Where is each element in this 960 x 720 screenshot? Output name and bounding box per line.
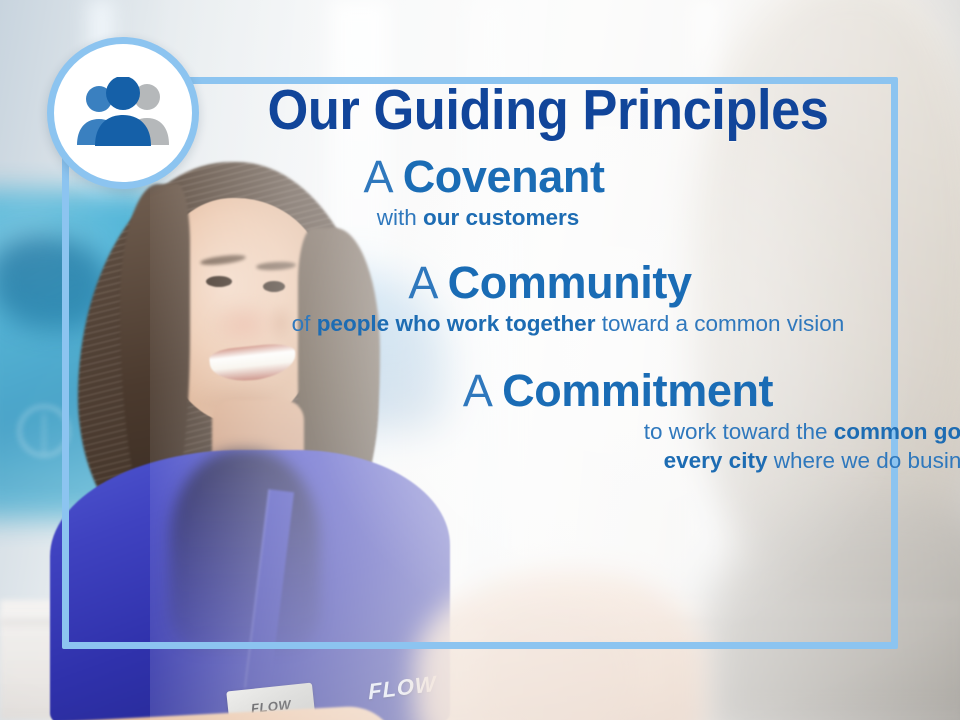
principle-commitment: A Commitment to work toward the common g… xyxy=(238,367,960,476)
shirt-shadow xyxy=(170,450,320,650)
text-block: Our Guiding Principles A Covenant with o… xyxy=(150,82,910,476)
principle-keyword: Covenant xyxy=(403,151,605,202)
principle-keyword: Community xyxy=(448,257,692,308)
principle-headline: A Community xyxy=(170,259,930,306)
principle-headline: A Commitment xyxy=(238,367,960,414)
principle-article: A xyxy=(463,365,490,416)
principle-community: A Community of people who work together … xyxy=(170,259,930,339)
principle-headline: A Covenant xyxy=(104,153,864,200)
principle-subtext: of people who work together toward a com… xyxy=(188,310,948,339)
principle-subtext: to work toward the common good of every … xyxy=(630,418,960,476)
principle-subtext: with our customers xyxy=(98,204,858,233)
principle-covenant: A Covenant with our customers xyxy=(104,153,864,233)
guiding-principles-graphic: FLOW FLOW xyxy=(0,0,960,720)
principle-article: A xyxy=(408,257,435,308)
principle-article: A xyxy=(363,151,390,202)
principle-keyword: Commitment xyxy=(502,365,773,416)
page-title: Our Guiding Principles xyxy=(198,82,897,139)
